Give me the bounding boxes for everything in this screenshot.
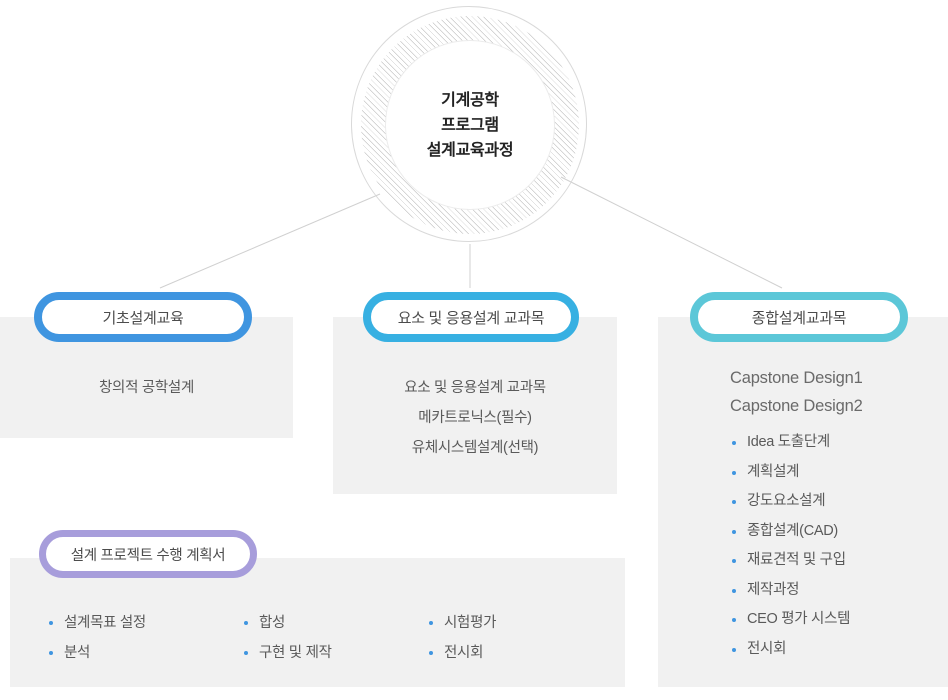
list-item-label: CEO 평가 시스템 xyxy=(747,611,850,627)
bullet-dot-icon xyxy=(732,559,736,563)
list-item: 구현 및 제작 xyxy=(243,638,423,668)
list-item-label: 제작과정 xyxy=(747,582,799,598)
bullet-dot-icon xyxy=(49,651,53,655)
bullet-dot-icon xyxy=(732,500,736,504)
capstone-heading: Capstone Design1 xyxy=(730,364,940,392)
pill-element-design[interactable]: 요소 및 응용설계 교과목 xyxy=(363,292,579,342)
list-item-label: 강도요소설계 xyxy=(747,493,825,509)
hub-title-line-1: 기계공학 xyxy=(427,88,514,113)
bullet-dot-icon xyxy=(732,648,736,652)
project-column-3: 시험평가 전시회 xyxy=(428,608,608,668)
hub-title-line-2: 프로그램 xyxy=(427,113,514,138)
list-item: 합성 xyxy=(243,608,423,638)
bullet-dot-icon xyxy=(732,589,736,593)
bullet-dot-icon xyxy=(49,621,53,625)
list-item: Idea 도출단계 xyxy=(731,428,941,458)
list-item: 전시회 xyxy=(731,635,941,665)
list-item-label: 합성 xyxy=(259,615,285,631)
list-item-label: Idea 도출단계 xyxy=(747,434,830,450)
bullet-dot-icon xyxy=(429,651,433,655)
list-item: 설계목표 설정 xyxy=(48,608,238,638)
list-item: 종합설계(CAD) xyxy=(731,517,941,547)
pill-basic-design[interactable]: 기초설계교육 xyxy=(34,292,252,342)
pill-capstone-design[interactable]: 종합설계교과목 xyxy=(690,292,908,342)
project-bullets: 합성 구현 및 제작 xyxy=(243,608,423,668)
basic-design-line: 창의적 공학설계 xyxy=(0,373,293,403)
list-item-label: 분석 xyxy=(64,645,90,661)
hub-inner-circle: 기계공학 프로그램 설계교육과정 xyxy=(385,40,555,210)
project-column-1: 설계목표 설정 분석 xyxy=(48,608,238,668)
bullet-dot-icon xyxy=(732,441,736,445)
element-design-line: 요소 및 응용설계 교과목 xyxy=(333,373,617,403)
capstone-bullets: Idea 도출단계 계획설계 강도요소설계 종합설계(CAD) 재료견적 및 구… xyxy=(731,428,941,664)
element-design-line: 유체시스템설계(선택) xyxy=(333,433,617,463)
hub-title: 기계공학 프로그램 설계교육과정 xyxy=(427,88,514,163)
list-item: 제작과정 xyxy=(731,576,941,606)
list-item: 전시회 xyxy=(428,638,608,668)
capstone-headings: Capstone Design1 Capstone Design2 xyxy=(730,364,940,420)
list-item: 시험평가 xyxy=(428,608,608,638)
project-column-2: 합성 구현 및 제작 xyxy=(243,608,423,668)
list-item-label: 계획설계 xyxy=(747,464,799,480)
element-design-text: 요소 및 응용설계 교과목 메카트로닉스(필수) 유체시스템설계(선택) xyxy=(333,373,617,463)
basic-design-text: 창의적 공학설계 xyxy=(0,373,293,403)
bullet-dot-icon xyxy=(732,530,736,534)
capstone-heading: Capstone Design2 xyxy=(730,392,940,420)
bullet-dot-icon xyxy=(732,471,736,475)
hub-title-line-3: 설계교육과정 xyxy=(427,138,514,163)
bullet-dot-icon xyxy=(244,621,248,625)
list-item: 재료견적 및 구입 xyxy=(731,546,941,576)
central-hub: 기계공학 프로그램 설계교육과정 xyxy=(351,6,589,244)
list-item-label: 설계목표 설정 xyxy=(64,615,146,631)
capstone-item-list: Idea 도출단계 계획설계 강도요소설계 종합설계(CAD) 재료견적 및 구… xyxy=(731,428,941,664)
connector-hub-to-basic xyxy=(160,194,380,288)
bullet-dot-icon xyxy=(429,621,433,625)
list-item-label: 전시회 xyxy=(444,645,483,661)
element-design-line: 메카트로닉스(필수) xyxy=(333,403,617,433)
list-item: 강도요소설계 xyxy=(731,487,941,517)
project-bullets: 설계목표 설정 분석 xyxy=(48,608,238,668)
list-item: CEO 평가 시스템 xyxy=(731,605,941,635)
pill-design-project[interactable]: 설계 프로젝트 수행 계획서 xyxy=(39,530,257,578)
list-item-label: 구현 및 제작 xyxy=(259,645,332,661)
list-item-label: 전시회 xyxy=(747,641,786,657)
list-item: 분석 xyxy=(48,638,238,668)
list-item-label: 종합설계(CAD) xyxy=(747,523,838,539)
diagram-canvas: 기계공학 프로그램 설계교육과정 기초설계교육 요소 및 응용설계 교과목 종합… xyxy=(0,0,948,700)
connector-hub-to-capstone xyxy=(561,177,782,288)
bullet-dot-icon xyxy=(244,651,248,655)
project-bullets: 시험평가 전시회 xyxy=(428,608,608,668)
list-item-label: 재료견적 및 구입 xyxy=(747,552,846,568)
list-item: 계획설계 xyxy=(731,458,941,488)
bullet-dot-icon xyxy=(732,618,736,622)
list-item-label: 시험평가 xyxy=(444,615,496,631)
